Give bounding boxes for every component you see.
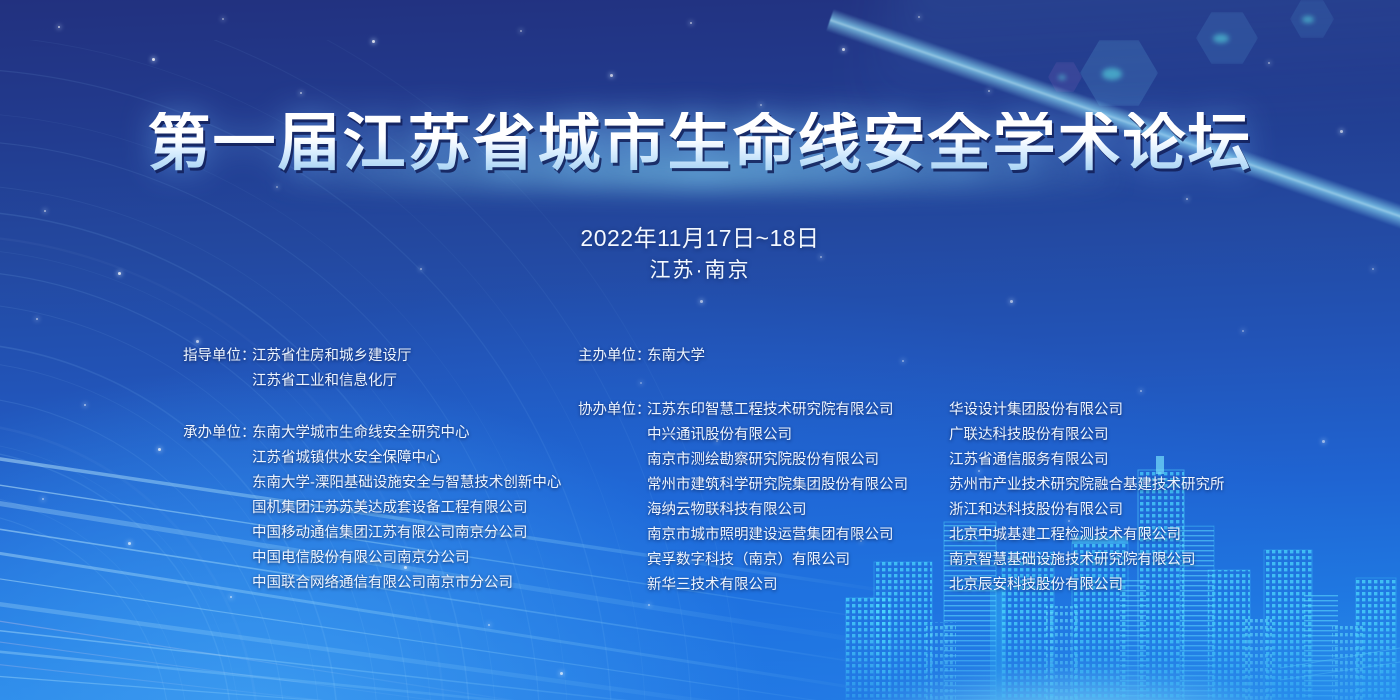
list-item: 江苏省工业和信息化厅 <box>252 369 412 394</box>
list-item: 中国电信股份有限公司南京分公司 <box>252 546 561 571</box>
event-location: 江苏·南京 <box>0 254 1400 284</box>
list-item: 东南大学-溧阳基础设施安全与智慧技术创新中心 <box>252 471 561 496</box>
guidance-organizations: 指导单位： 江苏省住房和城乡建设厅 江苏省工业和信息化厅 <box>183 344 412 394</box>
coorganizer-items-col2: 华设设计集团股份有限公司 广联达科技股份有限公司 江苏省通信服务有限公司 苏州市… <box>949 398 1225 598</box>
guidance-items: 江苏省住房和城乡建设厅 江苏省工业和信息化厅 <box>252 344 412 394</box>
list-item: 华设设计集团股份有限公司 <box>949 398 1225 423</box>
list-item: 江苏省通信服务有限公司 <box>949 448 1225 473</box>
list-item: 北京辰安科技股份有限公司 <box>949 573 1225 598</box>
coorganizer-label: 协办单位： <box>578 398 647 598</box>
list-item: 国机集团江苏苏美达成套设备工程有限公司 <box>252 496 561 521</box>
host-label: 主办单位： <box>578 344 647 369</box>
guidance-label: 指导单位： <box>183 344 252 394</box>
host-items: 东南大学 <box>647 344 705 369</box>
event-date: 2022年11月17日~18日 <box>0 219 1400 253</box>
list-item: 浙江和达科技股份有限公司 <box>949 498 1225 523</box>
list-item: 南京市城市照明建设运营集团有限公司 <box>647 523 908 548</box>
host-organizations: 主办单位： 东南大学 <box>578 344 705 369</box>
list-item: 江苏省住房和城乡建设厅 <box>252 344 412 369</box>
list-item: 新华三技术有限公司 <box>647 573 908 598</box>
coorganizer-organizations-column-2: 华设设计集团股份有限公司 广联达科技股份有限公司 江苏省通信服务有限公司 苏州市… <box>949 398 1225 598</box>
list-item: 宾孚数字科技（南京）有限公司 <box>647 548 908 573</box>
undertaker-organizations: 承办单位： 东南大学城市生命线安全研究中心 江苏省城镇供水安全保障中心 东南大学… <box>183 421 561 596</box>
list-item: 江苏省城镇供水安全保障中心 <box>252 446 561 471</box>
list-item: 中兴通讯股份有限公司 <box>647 423 908 448</box>
coorganizer-items-col1: 江苏东印智慧工程技术研究院有限公司 中兴通讯股份有限公司 南京市测绘勘察研究院股… <box>647 398 908 598</box>
undertaker-items: 东南大学城市生命线安全研究中心 江苏省城镇供水安全保障中心 东南大学-溧阳基础设… <box>252 421 561 596</box>
list-item: 中国移动通信集团江苏有限公司南京分公司 <box>252 521 561 546</box>
list-item: 北京中城基建工程检测技术有限公司 <box>949 523 1225 548</box>
coorganizer-organizations-column-1: 协办单位： 江苏东印智慧工程技术研究院有限公司 中兴通讯股份有限公司 南京市测绘… <box>578 398 908 598</box>
list-item: 南京市测绘勘察研究院股份有限公司 <box>647 448 908 473</box>
list-item: 海纳云物联科技有限公司 <box>647 498 908 523</box>
list-item: 南京智慧基础设施技术研究院有限公司 <box>949 548 1225 573</box>
list-item: 中国联合网络通信有限公司南京市分公司 <box>252 571 561 596</box>
list-item: 东南大学 <box>647 344 705 369</box>
undertaker-label: 承办单位： <box>183 421 252 596</box>
list-item: 常州市建筑科学研究院集团股份有限公司 <box>647 473 908 498</box>
list-item: 江苏东印智慧工程技术研究院有限公司 <box>647 398 908 423</box>
list-item: 广联达科技股份有限公司 <box>949 423 1225 448</box>
page-title: 第一届江苏省城市生命线安全学术论坛 <box>0 112 1400 175</box>
list-item: 苏州市产业技术研究院融合基建技术研究所 <box>949 473 1225 498</box>
list-item: 东南大学城市生命线安全研究中心 <box>252 421 561 446</box>
conference-poster: 第一届江苏省城市生命线安全学术论坛 2022年11月17日~18日 江苏·南京 … <box>0 0 1400 700</box>
